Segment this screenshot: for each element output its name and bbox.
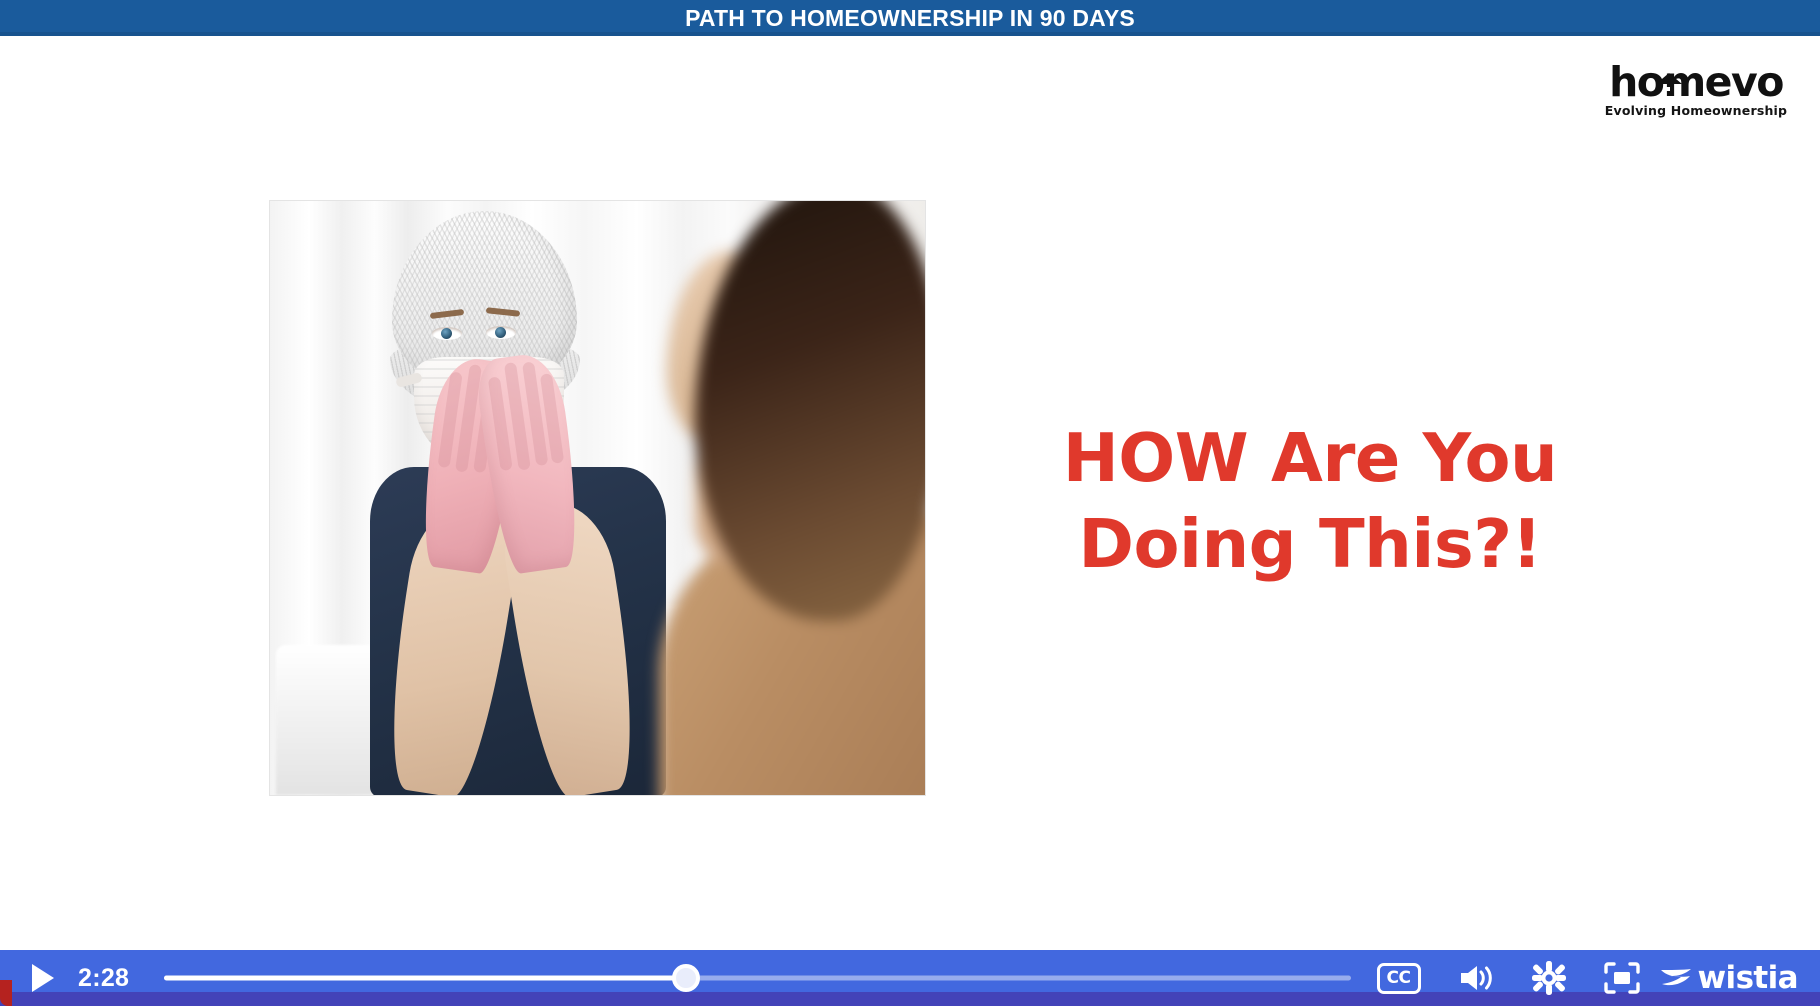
player-icon-group: CC <box>1377 960 1641 996</box>
captions-button[interactable]: CC <box>1377 963 1421 994</box>
title-bar-underline <box>0 32 1820 36</box>
volume-button[interactable] <box>1457 962 1495 994</box>
current-time-label: 2:28 <box>78 964 140 993</box>
house-roof-icon <box>1656 73 1682 84</box>
page-title: PATH TO HOMEOWNERSHIP IN 90 DAYS <box>685 7 1135 30</box>
photo-clinician-right-pupil <box>495 327 506 338</box>
photo-foreground-client <box>635 201 925 795</box>
house-roof-window-icon <box>1665 87 1670 91</box>
wistia-wordmark: wistia <box>1698 963 1798 994</box>
gear-icon <box>1531 960 1567 996</box>
cc-icon: CC <box>1377 963 1421 994</box>
settings-button[interactable] <box>1531 960 1567 996</box>
headline-line-1: HOW Are You <box>1063 419 1558 497</box>
progress-played <box>164 976 686 981</box>
homevo-logo: homevo Evolving Homeownership <box>1586 62 1806 118</box>
photo-clinician-left-pupil <box>441 328 452 339</box>
homevo-tagline: Evolving Homeownership <box>1605 105 1787 118</box>
fullscreen-button[interactable] <box>1603 961 1641 995</box>
wistia-swoosh-icon <box>1659 963 1693 993</box>
slide-canvas: homevo Evolving Homeownership <box>0 36 1820 970</box>
slide-headline: HOW Are You Doing This?! <box>960 416 1660 588</box>
progress-handle[interactable] <box>672 964 700 992</box>
homevo-wordmark-text: homevo <box>1609 58 1783 106</box>
slide-photo <box>270 201 925 795</box>
play-icon <box>32 964 54 992</box>
play-button[interactable] <box>26 961 60 995</box>
headline-line-2: Doing This?! <box>960 502 1660 588</box>
progress-scrubber[interactable] <box>164 963 1351 993</box>
volume-icon <box>1457 962 1495 994</box>
photo-scene <box>270 201 925 795</box>
homevo-wordmark: homevo <box>1609 62 1783 103</box>
player-control-bar[interactable]: 2:28 CC <box>0 950 1820 1006</box>
video-player[interactable]: homevo Evolving Homeownership <box>0 0 1820 1006</box>
wistia-branding[interactable]: wistia <box>1659 963 1798 994</box>
photo-client-hair <box>695 201 925 621</box>
slide-title-bar: PATH TO HOMEOWNERSHIP IN 90 DAYS <box>0 0 1820 36</box>
photo-clinician-figure <box>352 205 682 795</box>
fullscreen-icon <box>1603 961 1641 995</box>
